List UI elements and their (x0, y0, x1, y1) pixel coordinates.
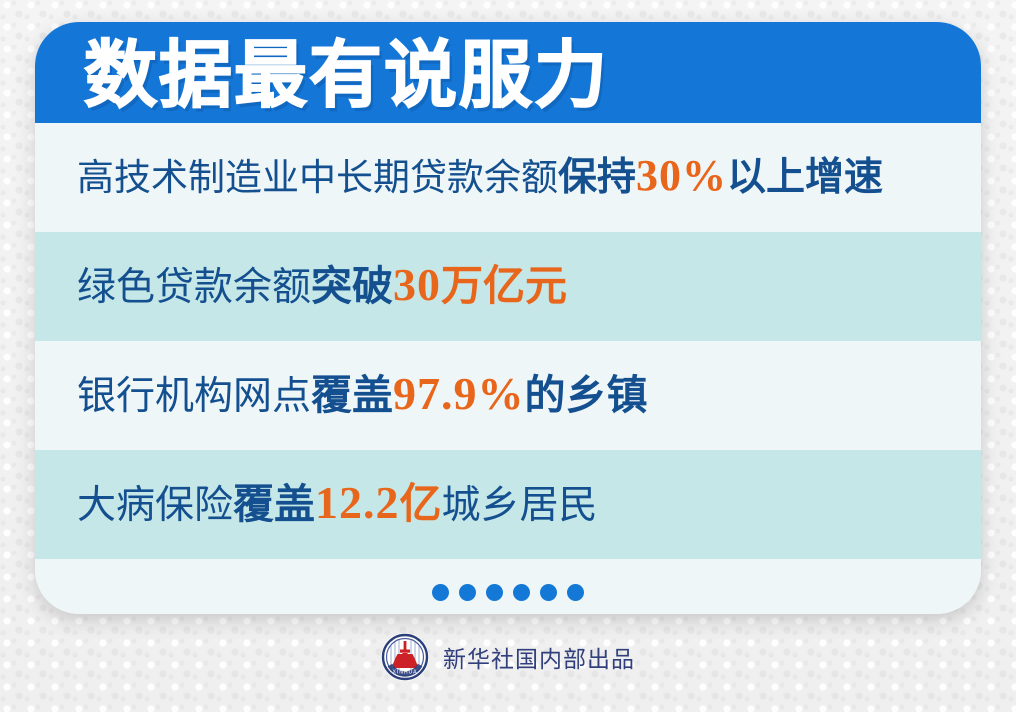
stat-label: 的乡镇 (525, 372, 648, 418)
stat-label: 城乡居民 (442, 484, 598, 527)
stat-label: 覆盖 (311, 372, 393, 418)
stat-row: 绿色贷款余额突破30万亿元 (35, 232, 981, 341)
stat-label: 覆盖 (233, 481, 315, 527)
ellipsis-dot (513, 584, 530, 601)
ellipsis-dot (567, 584, 584, 601)
stat-value: 30 (393, 259, 441, 310)
xinhua-logo-icon: XINHUA (381, 633, 429, 681)
stat-value: 30% (636, 151, 727, 200)
stat-value: 亿 (400, 482, 442, 528)
stat-row: 大病保险覆盖12.2亿城乡居民 (35, 450, 981, 559)
footer-credit: 新华社国内部出品 (443, 640, 635, 674)
stat-row: 银行机构网点覆盖97.9%的乡镇 (35, 341, 981, 450)
stat-label: 绿色贷款余额 (77, 266, 311, 309)
ellipsis-dot (432, 584, 449, 601)
stat-label: 突破 (311, 263, 393, 309)
stat-row-text: 高技术制造业中长期贷款余额保持30%以上增速 (77, 154, 883, 201)
stat-value: 12.2 (315, 477, 400, 528)
ellipsis-dots (35, 559, 981, 614)
ellipsis-dot (486, 584, 503, 601)
stat-label: 保持 (558, 156, 636, 199)
stat-row-text: 大病保险覆盖12.2亿城乡居民 (77, 481, 598, 528)
stat-label: 银行机构网点 (77, 375, 311, 418)
ellipsis-dot (540, 584, 557, 601)
stat-label: 大病保险 (77, 484, 233, 527)
ellipsis-dot (459, 584, 476, 601)
stat-row: 高技术制造业中长期贷款余额保持30%以上增速 (35, 123, 981, 232)
stat-label: 高技术制造业中长期贷款余额 (77, 158, 558, 199)
stat-value: 97.9% (393, 368, 525, 419)
footer: XINHUA 新华社国内部出品 (0, 626, 1016, 688)
stat-rows: 高技术制造业中长期贷款余额保持30%以上增速绿色贷款余额突破30万亿元银行机构网… (35, 123, 981, 559)
logo-caption: XINHUA (393, 669, 418, 675)
stat-row-text: 绿色贷款余额突破30万亿元 (77, 263, 567, 310)
card-header: 数据最有说服力 (35, 22, 981, 123)
page-title: 数据最有说服力 (84, 28, 609, 124)
stat-row-text: 银行机构网点覆盖97.9%的乡镇 (77, 372, 648, 419)
stat-value: 万亿元 (441, 264, 567, 310)
stat-label: 以上增速 (727, 156, 883, 199)
infographic-card: 数据最有说服力 高技术制造业中长期贷款余额保持30%以上增速绿色贷款余额突破30… (35, 22, 981, 614)
